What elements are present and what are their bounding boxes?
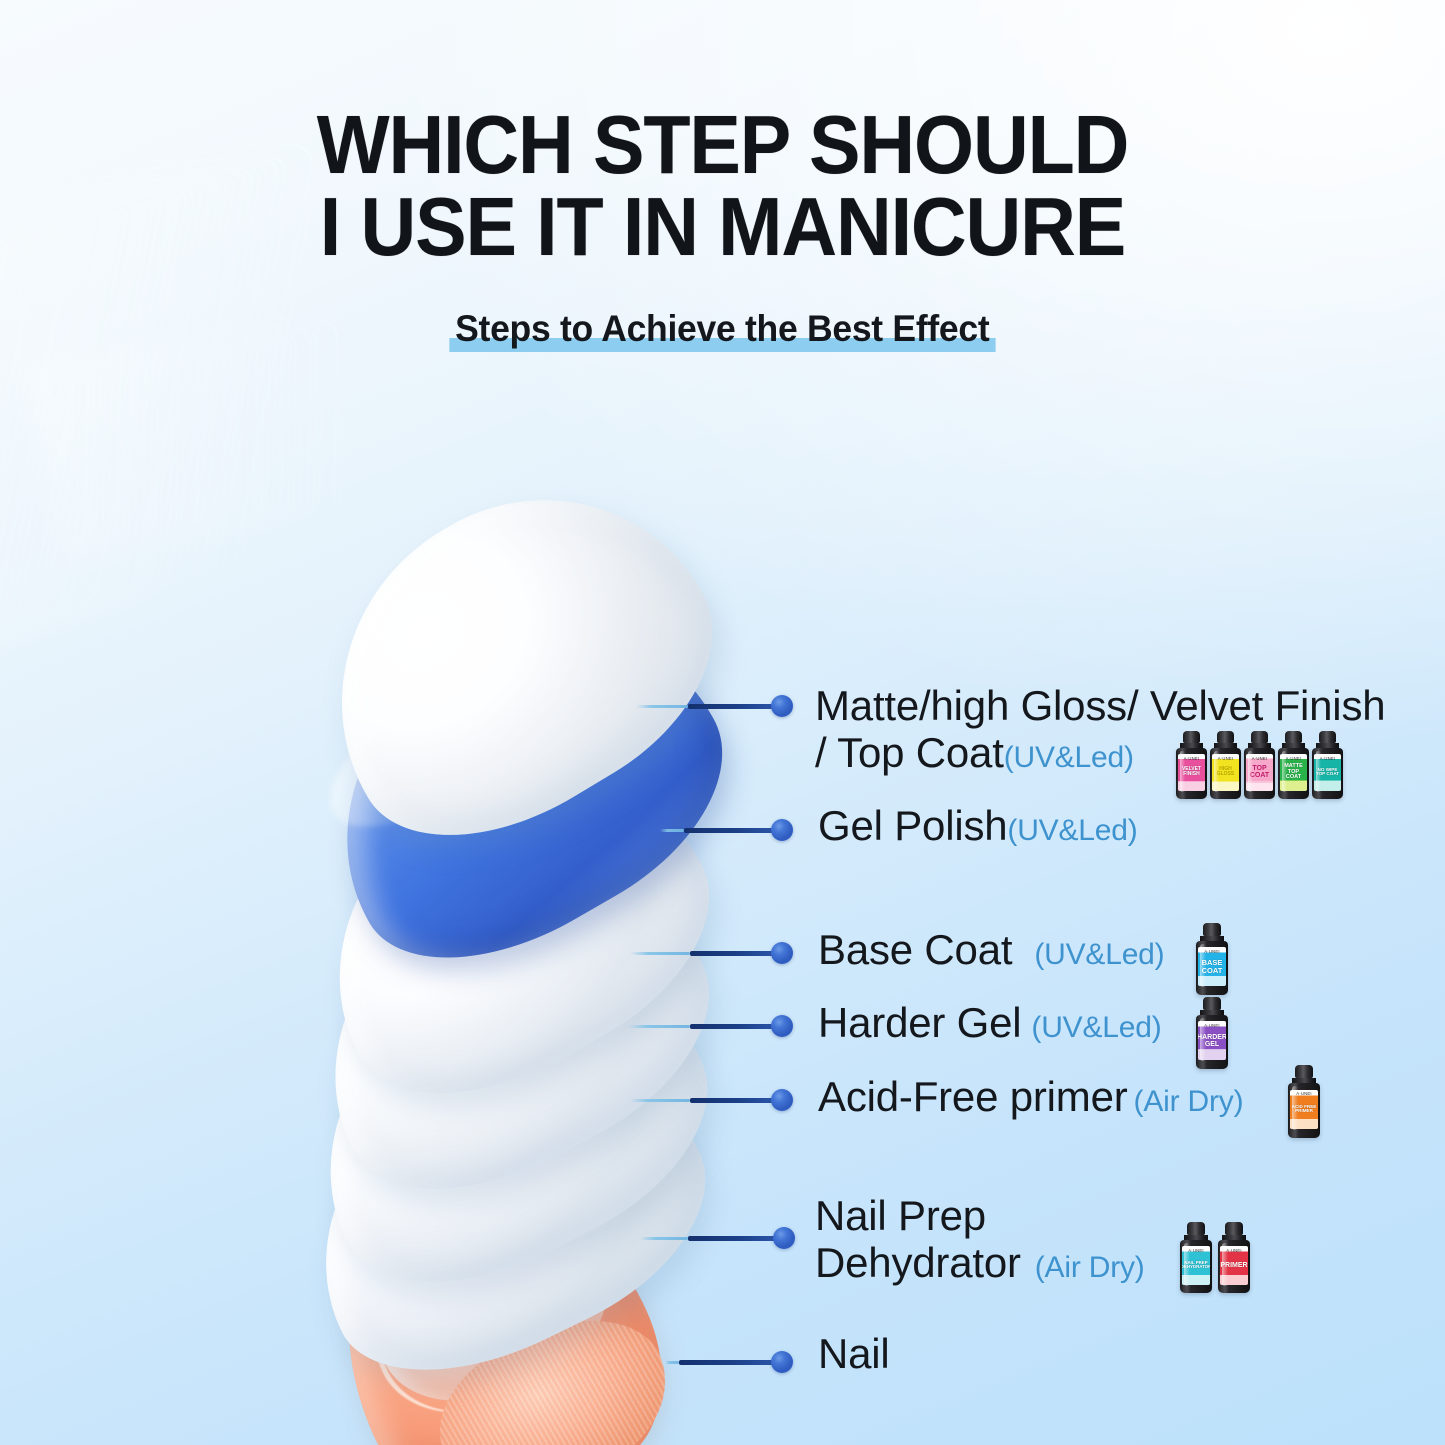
bottle-nail-prep-dehydrator: A·UNEI NAIL PREP DEHYDRATOR [1180,1222,1212,1293]
connector-faint-segment [665,1361,679,1364]
bottle-body: A·UNEI HARDER GEL [1196,1015,1228,1069]
bottle-body: A·UNEI MATTE TOP COAT [1278,748,1309,799]
bottle-label-text: VELVET FINISH [1178,767,1205,777]
bottle-brand-text: A·UNEI [1220,1248,1248,1253]
bottle-label-text: ACID FREE PRIMER [1290,1105,1318,1114]
bottle-body: A·UNEI BASE COAT [1196,941,1228,995]
bottle-cap [1251,731,1268,743]
bottle-brand-text: A·UNEI [1178,756,1205,761]
label-acid-free-primer: Acid-Free primer(Air Dry) [818,1073,1243,1120]
bottle-group-base-coat: A·UNEI BASE COAT [1196,923,1228,995]
bottle-label: A·UNEI HIGH GLOSS [1212,754,1239,791]
label-gel-polish: Gel Polish(UV&Led) [818,802,1138,849]
bottle-group-harder-gel: A·UNEI HARDER GEL [1196,997,1228,1069]
bottle-base-coat: A·UNEI BASE COAT [1196,923,1228,995]
connector-solid-segment [688,1236,776,1241]
bottle-body: A·UNEI NAIL PREP DEHYDRATOR [1180,1240,1212,1293]
bottle-brand-text: A·UNEI [1280,756,1307,761]
bottle-body: A·UNEI HIGH GLOSS [1210,748,1241,799]
bottle-label: A·UNEI ACID FREE PRIMER [1290,1090,1318,1130]
bottle-label: A·UNEI NO WIPE TOP COAT [1314,754,1341,791]
bottle-label: A·UNEI VELVET FINISH [1178,754,1205,791]
connector-faint-segment [660,829,684,832]
bottle-top-coat: A·UNEI TOP COAT [1244,731,1275,799]
bottle-label: A·UNEI BASE COAT [1198,947,1226,986]
bottle-label: A·UNEI NAIL PREP DEHYDRATOR [1182,1246,1210,1284]
bottle-cap [1295,1065,1313,1078]
bottle-matte-top-coat: A·UNEI MATTE TOP COAT [1278,731,1309,799]
bottle-cap [1285,731,1302,743]
connector-nail-prep [640,1228,798,1248]
connector-solid-segment [690,1024,774,1029]
label-nail-prep-line1: Nail Prep [815,1192,1145,1239]
bottle-cap [1225,1222,1243,1235]
bottle-brand-text: A·UNEI [1290,1091,1318,1096]
bottle-high-gloss: A·UNEI HIGH GLOSS [1210,731,1241,799]
bottle-label: A·UNEI TOP COAT [1246,754,1273,791]
connector-harder-gel [628,1016,798,1036]
connector-solid-segment [679,1360,774,1365]
bottle-velvet-finish: A·UNEI VELVET FINISH [1176,731,1207,799]
connector-dot [771,942,793,964]
bottle-brand-text: A·UNEI [1182,1248,1210,1253]
connector-faint-segment [636,705,688,708]
bottle-label-text: HIGH GLOSS [1212,767,1239,777]
connector-faint-segment [628,1025,690,1028]
bottle-body: A·UNEI PRIMER [1218,1240,1250,1293]
connector-dot [771,1089,793,1111]
connector-solid-segment [690,1098,774,1103]
connector-dot [771,695,793,717]
connector-top-coat [636,696,798,716]
connector-dot [771,819,793,841]
bottle-brand-text: A·UNEI [1212,756,1239,761]
bottle-cap [1217,731,1234,743]
bottle-label-text: HARDER GEL [1198,1034,1226,1048]
connector-solid-segment [684,828,774,833]
bottle-brand-text: A·UNEI [1314,756,1341,761]
connector-dot [773,1227,795,1249]
connector-dot [771,1351,793,1373]
bottle-label-text: PRIMER [1220,1262,1247,1269]
bottle-body: A·UNEI NO WIPE TOP COAT [1312,748,1343,799]
bottle-label-text: MATTE TOP COAT [1280,764,1307,781]
bottle-label: A·UNEI PRIMER [1220,1246,1248,1284]
bottle-acid-free-primer: A·UNEI ACID FREE PRIMER [1288,1065,1320,1138]
bottle-group-acid-free-primer: A·UNEI ACID FREE PRIMER [1288,1065,1320,1138]
bottle-cap [1203,923,1221,936]
bottle-label-text: NAIL PREP DEHYDRATOR [1182,1261,1210,1270]
label-top-coat-line1: Matte/high Gloss/ Velvet Finish [815,682,1385,729]
connector-dot [771,1015,793,1037]
bottle-label: A·UNEI MATTE TOP COAT [1280,754,1307,791]
bottle-label-text: NO WIPE TOP COAT [1314,768,1341,777]
bottle-cap [1183,731,1200,743]
bottle-body: A·UNEI TOP COAT [1244,748,1275,799]
bottle-label-text: BASE COAT [1198,959,1226,974]
bottle-label-text: TOP COAT [1246,765,1273,779]
bottle-no-wipe-top-coat: A·UNEI NO WIPE TOP COAT [1312,731,1343,799]
bottle-brand-text: A·UNEI [1198,949,1226,954]
bottle-group-nail-prep: A·UNEI NAIL PREP DEHYDRATOR A·UNEI PRIME… [1180,1222,1250,1293]
connector-base-coat [630,943,798,963]
connector-solid-segment [688,704,774,709]
label-harder-gel: Harder Gel(UV&Led) [818,999,1162,1046]
bottle-primer: A·UNEI PRIMER [1218,1222,1250,1293]
connector-faint-segment [630,1099,690,1102]
connector-faint-segment [640,1237,688,1240]
infographic-canvas: WHICH STEP SHOULD I USE IT IN MANICURE S… [0,0,1445,1445]
label-base-coat: Base Coat(UV&Led) [818,926,1164,973]
bottle-cap [1319,731,1336,743]
bottle-harder-gel: A·UNEI HARDER GEL [1196,997,1228,1069]
bottle-body: A·UNEI VELVET FINISH [1176,748,1207,799]
bottle-body: A·UNEI ACID FREE PRIMER [1288,1083,1320,1138]
connector-nail [665,1352,798,1372]
label-nail-prep-line2: Dehydrator(Air Dry) [815,1239,1145,1286]
connector-faint-segment [630,952,690,955]
bottle-cap [1187,1222,1205,1235]
bottle-label: A·UNEI HARDER GEL [1198,1021,1226,1060]
connector-acid-free-primer [630,1090,798,1110]
bottle-cap [1203,997,1221,1010]
connector-solid-segment [690,951,774,956]
label-nail-prep-dehydrator: Nail Prep Dehydrator(Air Dry) [815,1192,1145,1286]
bottle-group-top-coat: A·UNEI VELVET FINISH A·UNEI HIGH GLOSS [1176,731,1343,799]
connector-gel-polish [660,820,798,840]
bottle-brand-text: A·UNEI [1246,756,1273,761]
bottle-brand-text: A·UNEI [1198,1023,1226,1028]
label-nail: Nail [818,1330,890,1377]
